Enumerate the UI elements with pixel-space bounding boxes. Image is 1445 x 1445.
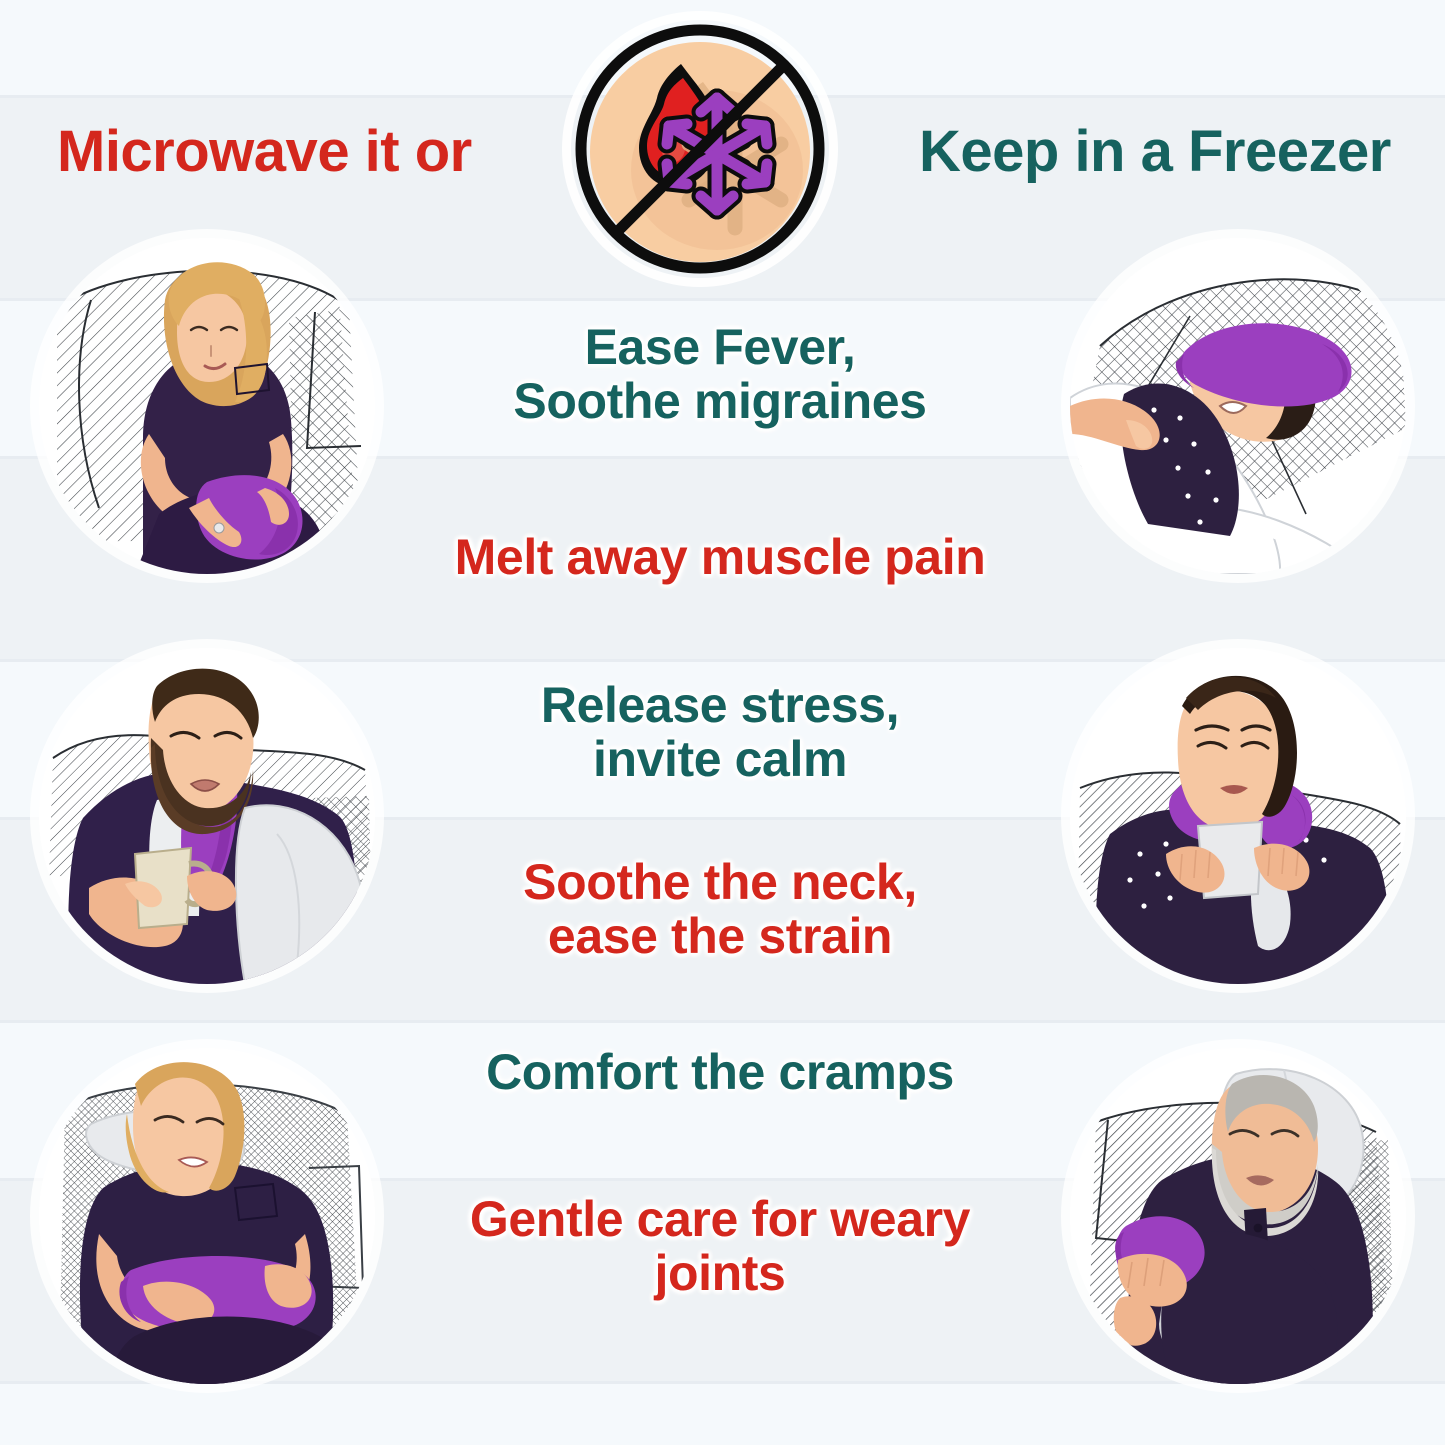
header-left-microwave: Microwave it or: [57, 122, 472, 181]
benefit-line: Melt away muscle pain: [370, 530, 1070, 584]
header-right-freezer: Keep in a Freezer: [919, 122, 1391, 181]
illustration-woman-forehead-cold: [1070, 238, 1406, 574]
illustration-man-elbow-cold: [1070, 1048, 1406, 1384]
benefit-line: invite calm: [420, 732, 1020, 786]
benefit-melt-muscle-pain: Melt away muscle pain: [370, 530, 1070, 584]
benefit-line: Soothe migraines: [420, 374, 1020, 428]
benefit-line: joints: [390, 1246, 1050, 1300]
scene-svg: [39, 648, 375, 984]
scene-svg: [1070, 238, 1406, 574]
scene-svg: [39, 1048, 375, 1384]
badge-svg: [571, 20, 829, 278]
infographic-canvas: Microwave it or Keep in a Freezer: [0, 0, 1445, 1445]
benefit-line: ease the strain: [420, 909, 1020, 963]
scene-svg: [1070, 648, 1406, 984]
illustration-man-neck-heat: [39, 648, 375, 984]
benefit-release-stress: Release stress, invite calm: [420, 678, 1020, 786]
benefit-line: Comfort the cramps: [390, 1045, 1050, 1099]
scene-svg: [1070, 1048, 1406, 1384]
illustration-woman-neck-heat: [1070, 648, 1406, 984]
benefit-comfort-cramps: Comfort the cramps: [390, 1045, 1050, 1099]
benefit-line: Ease Fever,: [420, 320, 1020, 374]
hot-and-cold-prohibition-badge: [571, 20, 829, 278]
benefit-gentle-care: Gentle care for weary joints: [390, 1192, 1050, 1300]
background-band: [0, 1384, 1445, 1445]
benefit-line: Soothe the neck,: [420, 855, 1020, 909]
benefit-soothe-neck: Soothe the neck, ease the strain: [420, 855, 1020, 963]
benefit-line: Release stress,: [420, 678, 1020, 732]
benefit-ease-fever: Ease Fever, Soothe migraines: [420, 320, 1020, 428]
illustration-woman-abdomen-heat: [39, 1048, 375, 1384]
benefit-line: Gentle care for weary: [390, 1192, 1050, 1246]
scene-svg: [39, 238, 375, 574]
illustration-woman-knee-heat: [39, 238, 375, 574]
